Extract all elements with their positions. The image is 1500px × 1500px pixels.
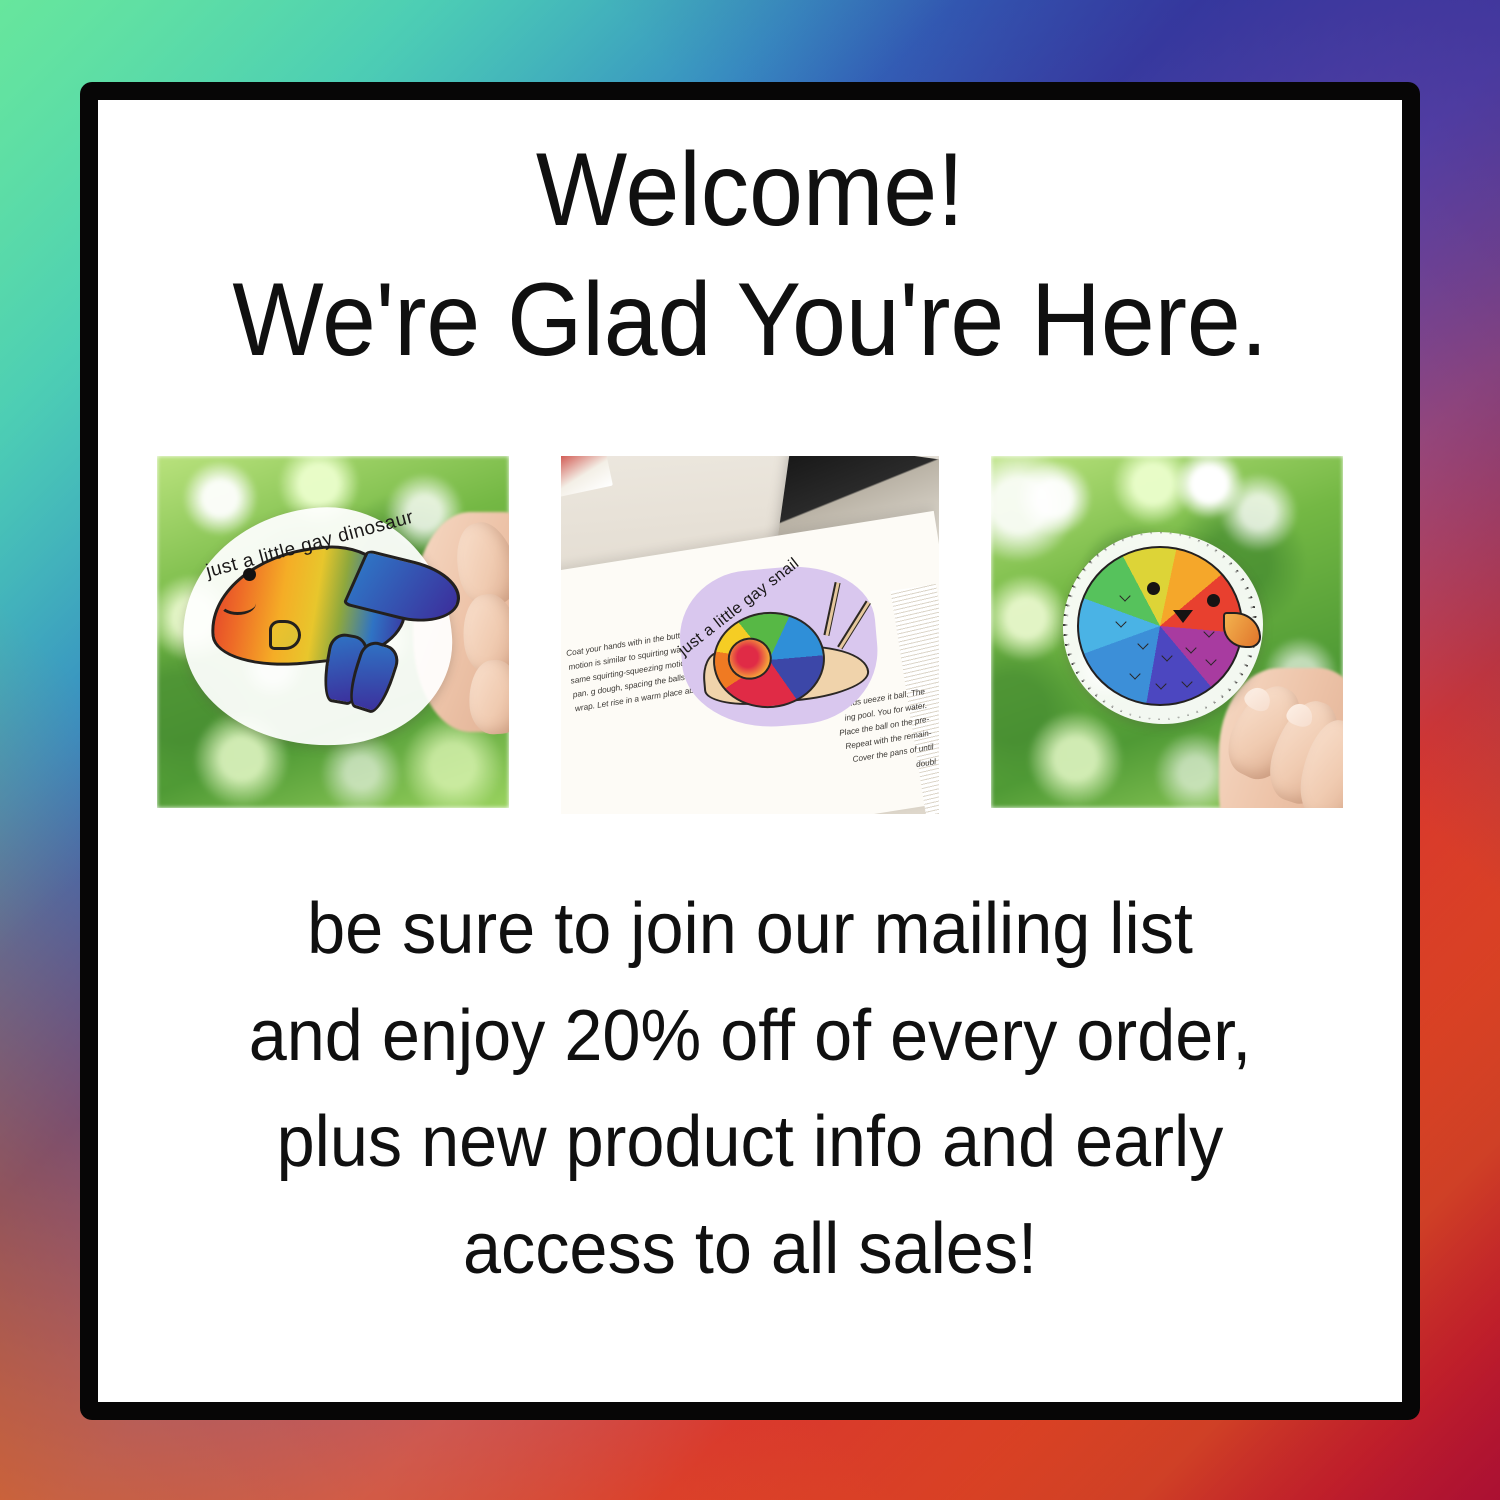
- body-line-2: and enjoy 20% off of every order,: [131, 983, 1370, 1090]
- dinosaur-arm: [269, 620, 301, 650]
- body-line-4: access to all sales!: [131, 1196, 1370, 1303]
- black-frame: Welcome! We're Glad You're Here.: [80, 82, 1420, 1420]
- gay-dinosaur-sticker-photo: just a little gay dinosaur: [157, 456, 509, 808]
- rainbow-pufferfish-sticker-photo: [991, 456, 1343, 808]
- pufferfish-mouth: [1173, 610, 1193, 623]
- body-line-3: plus new product info and early: [131, 1089, 1370, 1196]
- body-copy: be sure to join our mailing list and enj…: [131, 876, 1370, 1302]
- rainbow-gradient-poster: Welcome! We're Glad You're Here.: [0, 0, 1500, 1500]
- body-line-1: be sure to join our mailing list: [131, 876, 1370, 983]
- product-photo-strip: just a little gay dinosaur Coat your han…: [98, 456, 1402, 808]
- pufferfish-eye: [1147, 582, 1160, 595]
- headline-line-1: Welcome!: [144, 138, 1357, 242]
- headline-line-2: We're Glad You're Here.: [144, 268, 1357, 372]
- dinosaur-smile: [219, 592, 256, 615]
- gay-snail-sticker-photo: Coat your hands with in the butter. Pinc…: [561, 456, 939, 814]
- pufferfish-eye: [1207, 594, 1220, 607]
- white-card: Welcome! We're Glad You're Here.: [98, 100, 1402, 1402]
